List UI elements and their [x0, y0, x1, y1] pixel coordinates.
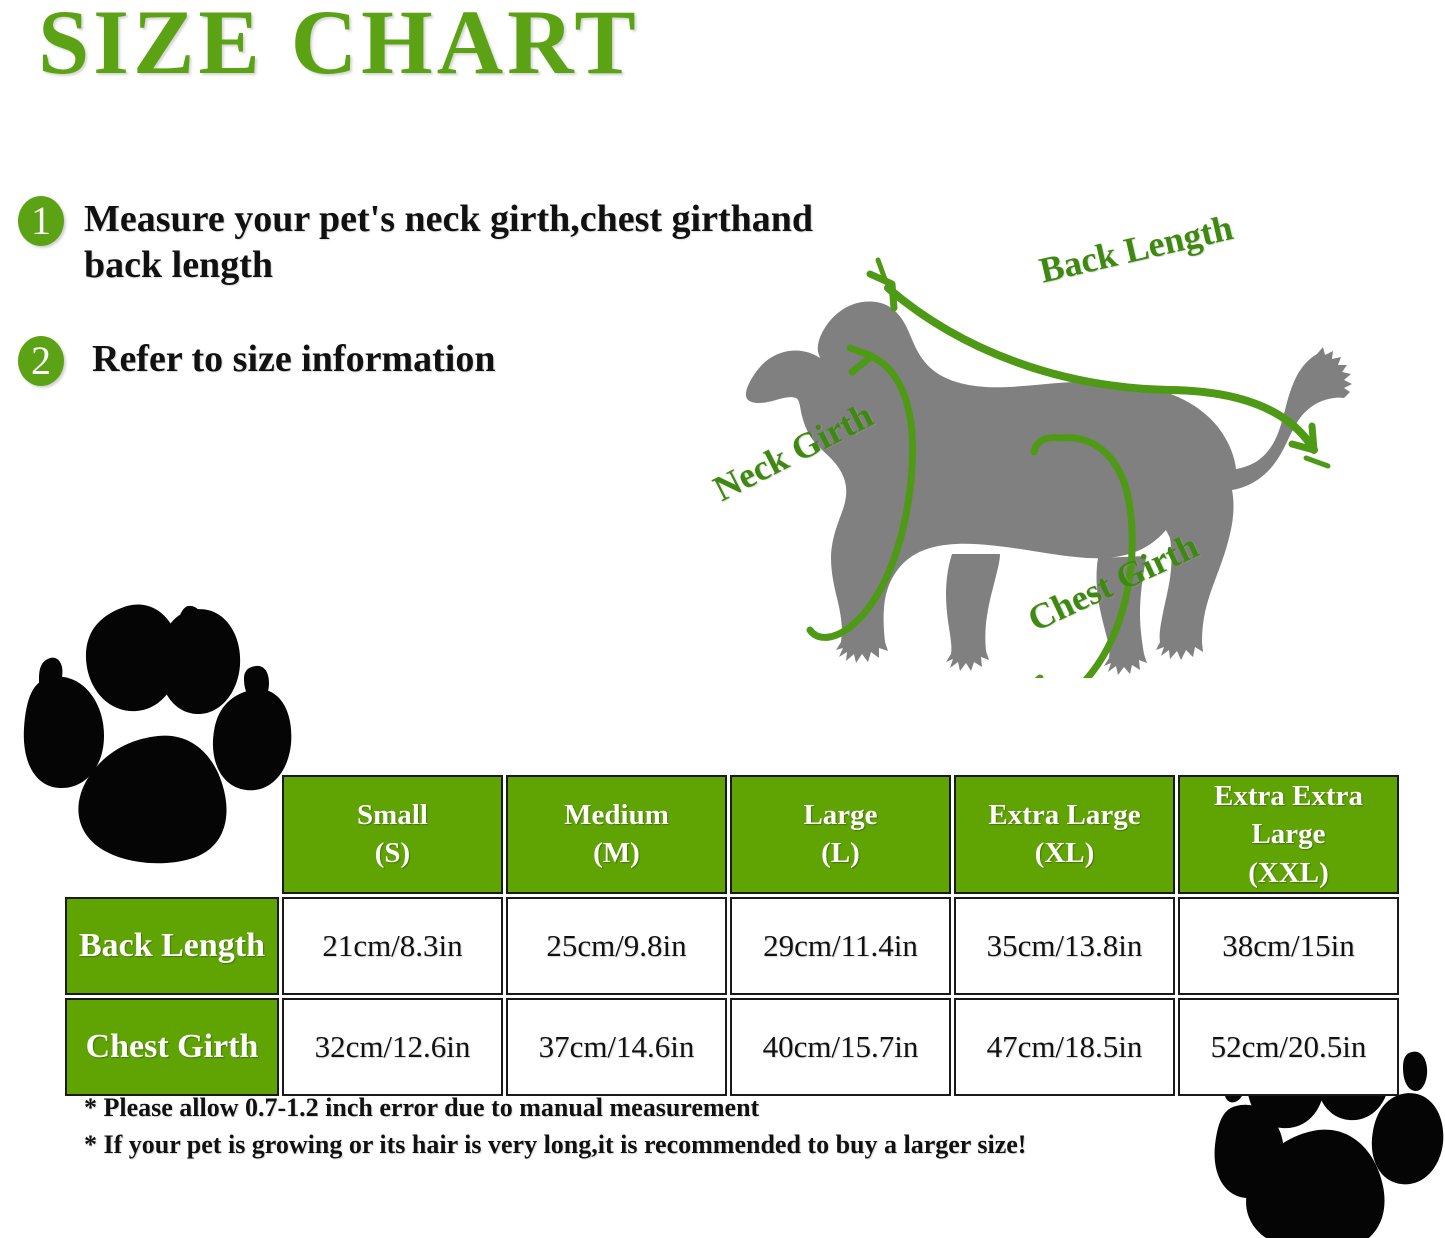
column-header-extra-large: Extra Large (XL) [954, 775, 1175, 894]
row-header-back-length: Back Length [65, 897, 279, 995]
step-number-badge-2: 2 [18, 336, 64, 386]
footnote-size-up-advice: * If your pet is growing or its hair is … [84, 1127, 1026, 1164]
column-header-extra-large-abbr: (XL) [956, 834, 1173, 872]
cell-back-length-large: 29cm/11.4in [730, 897, 951, 995]
column-header-extra-extra-large-abbr: (XXL) [1180, 854, 1397, 892]
column-header-small-abbr: (S) [284, 834, 501, 872]
footnotes: * Please allow 0.7-1.2 inch error due to… [84, 1090, 1026, 1164]
cell-chest-girth-extra-extra-large: 52cm/20.5in [1178, 998, 1399, 1096]
footnote-measurement-error: * Please allow 0.7-1.2 inch error due to… [84, 1090, 1026, 1127]
size-table-body: Small (S) Medium (M) Large (L) Extra Lar… [65, 775, 1399, 1096]
column-header-large-name: Large [803, 799, 877, 831]
column-header-large: Large (L) [730, 775, 951, 894]
table-header-row: Small (S) Medium (M) Large (L) Extra Lar… [65, 775, 1399, 894]
size-table: Small (S) Medium (M) Large (L) Extra Lar… [62, 772, 1402, 1099]
page-title: SIZE CHART [38, 0, 640, 88]
cell-chest-girth-extra-large: 47cm/18.5in [954, 998, 1175, 1096]
cell-back-length-extra-large: 35cm/13.8in [954, 897, 1175, 995]
column-header-medium-name: Medium [564, 799, 669, 831]
column-header-extra-extra-large-name: Extra Extra Large [1214, 780, 1363, 850]
cell-back-length-small: 21cm/8.3in [282, 897, 503, 995]
column-header-large-abbr: (L) [732, 834, 949, 872]
instruction-step-2: 2 Refer to size information [18, 336, 495, 386]
cell-back-length-medium: 25cm/9.8in [506, 897, 727, 995]
cell-back-length-extra-extra-large: 38cm/15in [1178, 897, 1399, 995]
column-header-small: Small (S) [282, 775, 503, 894]
table-row: Chest Girth 32cm/12.6in 37cm/14.6in 40cm… [65, 998, 1399, 1096]
table-row: Back Length 21cm/8.3in 25cm/9.8in 29cm/1… [65, 897, 1399, 995]
column-header-medium-abbr: (M) [508, 834, 725, 872]
table-corner-cell [65, 775, 279, 894]
cell-chest-girth-medium: 37cm/14.6in [506, 998, 727, 1096]
column-header-extra-large-name: Extra Large [988, 799, 1140, 831]
step-text-2: Refer to size information [92, 336, 495, 382]
cell-chest-girth-large: 40cm/15.7in [730, 998, 951, 1096]
column-header-small-name: Small [357, 799, 428, 831]
column-header-medium: Medium (M) [506, 775, 727, 894]
row-header-chest-girth: Chest Girth [65, 998, 279, 1096]
size-chart-page: SIZE CHART 1 Measure your pet's neck gir… [0, 0, 1445, 1238]
cell-chest-girth-small: 32cm/12.6in [282, 998, 503, 1096]
step-number-badge-1: 1 [18, 196, 64, 246]
column-header-extra-extra-large: Extra Extra Large (XXL) [1178, 775, 1399, 894]
